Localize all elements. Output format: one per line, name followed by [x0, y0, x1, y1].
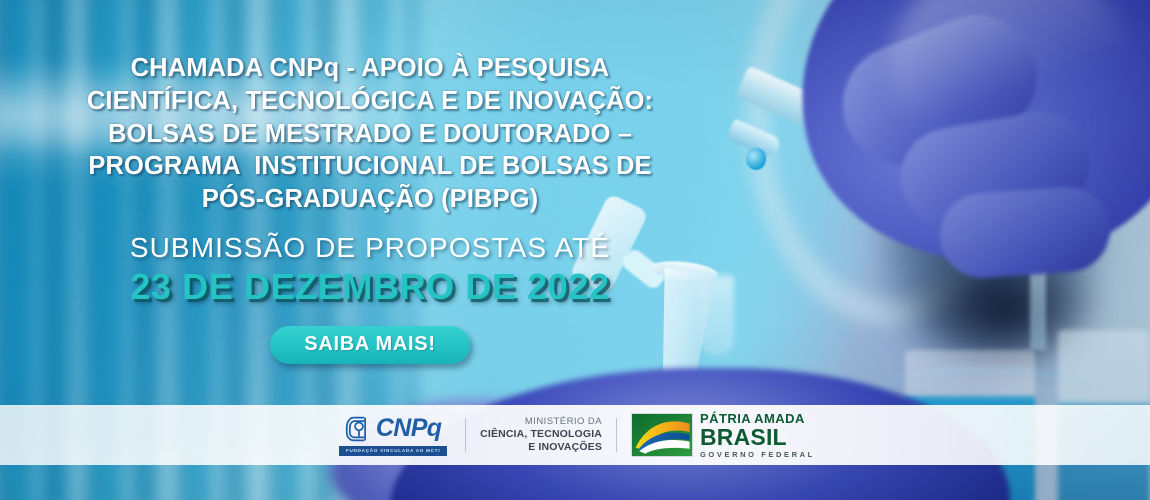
headline-line-2: CIENTÍFICA, TECNOLÓGICA E DE INOVAÇÃO:: [60, 85, 680, 118]
cnpq-foundation-banner: FUNDAÇÃO VINCULADA AO MCTI: [339, 446, 447, 456]
headline-line-3: BOLSAS DE MESTRADO E DOUTORADO –: [60, 118, 680, 151]
ministry-logo: MINISTÉRIO DA CIÊNCIA, TECNOLOGIA E INOV…: [480, 416, 602, 453]
banner-content: CHAMADA CNPq - APOIO À PESQUISA CIENTÍFI…: [0, 0, 740, 405]
headline-line-4: PROGRAMA INSTITUCIONAL DE BOLSAS DE: [60, 150, 680, 183]
footer-logo-bar: CNPq FUNDAÇÃO VINCULADA AO MCTI MINISTÉR…: [0, 405, 1150, 465]
ministry-line-2: CIÊNCIA, TECNOLOGIA: [480, 428, 602, 441]
page-title: CHAMADA CNPq - APOIO À PESQUISA CIENTÍFI…: [60, 52, 680, 216]
ministry-line-3: E INOVAÇÕES: [480, 441, 602, 454]
logo-divider-1: [465, 418, 466, 452]
ministry-line-1: MINISTÉRIO DA: [480, 416, 602, 428]
brasil-wordmark: PÁTRIA AMADA BRASIL GOVERNO FEDERAL: [700, 412, 815, 459]
submission-deadline-label: SUBMISSÃO DE PROPOSTAS ATÉ: [130, 232, 610, 264]
campaign-banner: CHAMADA CNPq - APOIO À PESQUISA CIENTÍFI…: [0, 0, 1150, 500]
cnpq-logo-top: CNPq: [345, 415, 442, 443]
logo-group: CNPq FUNDAÇÃO VINCULADA AO MCTI MINISTÉR…: [335, 412, 815, 459]
logo-divider-2: [616, 418, 617, 452]
headline-line-1: CHAMADA CNPq - APOIO À PESQUISA: [60, 52, 680, 85]
brasil-line-3: GOVERNO FEDERAL: [700, 451, 815, 459]
saiba-mais-button[interactable]: SAIBA MAIS!: [270, 326, 469, 364]
brasil-line-1: PÁTRIA AMADA: [700, 412, 815, 425]
cnpq-head-icon: [345, 415, 373, 443]
cnpq-wordmark: CNPq: [376, 416, 442, 441]
cnpq-logo[interactable]: CNPq FUNDAÇÃO VINCULADA AO MCTI: [335, 415, 451, 456]
submission-deadline-date: 23 DE DEZEMBRO DE 2022: [130, 266, 609, 308]
brasil-line-2: BRASIL: [700, 426, 815, 449]
headline-line-5: PÓS-GRADUAÇÃO (PIBPG): [60, 183, 680, 216]
governo-federal-logo[interactable]: PÁTRIA AMADA BRASIL GOVERNO FEDERAL: [631, 412, 815, 459]
brazil-flag-icon: [631, 413, 693, 457]
